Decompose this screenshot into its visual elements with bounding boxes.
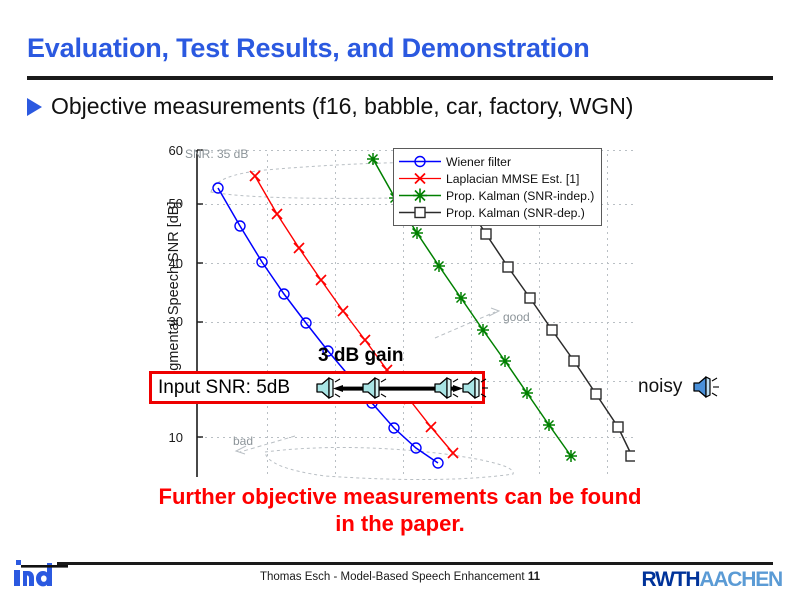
footer-author-title: Thomas Esch - Model-Based Speech Enhance…	[260, 571, 525, 583]
input-snr-label: Input SNR: 5dB	[152, 377, 290, 399]
legend-label-wiener-filter: Wiener filter	[442, 155, 511, 169]
closing-line-2: in the paper.	[0, 511, 800, 538]
speaker-icon	[314, 375, 344, 401]
title-divider	[27, 76, 773, 80]
noisy-group: noisy	[638, 374, 721, 400]
chart-figure: Segmental Speech SNR [dB] 60 50 40 30 20…	[145, 142, 635, 482]
bullet-row: Objective measurements (f16, babble, car…	[27, 93, 633, 120]
gain-annotation: 3 dB gain	[318, 345, 404, 367]
legend-label-laplacian-mmse: Laplacian MMSE Est. [1]	[442, 172, 579, 186]
legend-marker-square-icon	[398, 204, 442, 221]
rwth-aachen-logo: RWTHAACHEN	[642, 568, 782, 592]
legend-item-prop-kalman-snr-dep: Prop. Kalman (SNR-dep.)	[398, 204, 594, 221]
rwth-logo-prefix: RWTH	[642, 568, 700, 591]
speaker-group	[314, 375, 482, 401]
footer-divider	[57, 562, 773, 565]
y-axis-spine	[197, 150, 203, 477]
annotation-good: good	[503, 310, 530, 324]
legend-item-prop-kalman-snr-indep: Prop. Kalman (SNR-indep.)	[398, 187, 594, 204]
speaker-icon	[360, 375, 390, 401]
speaker-icon	[460, 375, 490, 401]
chart-legend: Wiener filter Laplacian MMSE Est. [1] Pr…	[393, 148, 602, 226]
closing-line-1: Further objective measurements can be fo…	[0, 484, 800, 511]
annotation-snr-35db: SNR: 35 dB	[185, 147, 248, 161]
speaker-icon	[691, 374, 721, 400]
legend-marker-circle-icon	[398, 153, 442, 170]
triangle-right-icon	[27, 98, 42, 116]
speaker-icon	[432, 375, 462, 401]
legend-item-laplacian-mmse: Laplacian MMSE Est. [1]	[398, 170, 594, 187]
page-title: Evaluation, Test Results, and Demonstrat…	[27, 33, 590, 64]
legend-label-prop-kalman-snr-indep: Prop. Kalman (SNR-indep.)	[442, 189, 594, 203]
legend-label-prop-kalman-snr-dep: Prop. Kalman (SNR-dep.)	[442, 206, 585, 220]
closing-message: Further objective measurements can be fo…	[0, 484, 800, 538]
rwth-logo-suffix: AACHEN	[699, 568, 782, 591]
bullet-text: Objective measurements (f16, babble, car…	[51, 93, 633, 120]
noisy-label: noisy	[638, 376, 682, 398]
input-snr-callout: Input SNR: 5dB	[149, 371, 485, 404]
legend-item-wiener-filter: Wiener filter	[398, 153, 594, 170]
annotation-bad: bad	[233, 434, 253, 448]
footer-page-number: 11	[528, 571, 540, 583]
legend-marker-x-icon	[398, 170, 442, 187]
legend-marker-star-icon	[398, 187, 442, 204]
